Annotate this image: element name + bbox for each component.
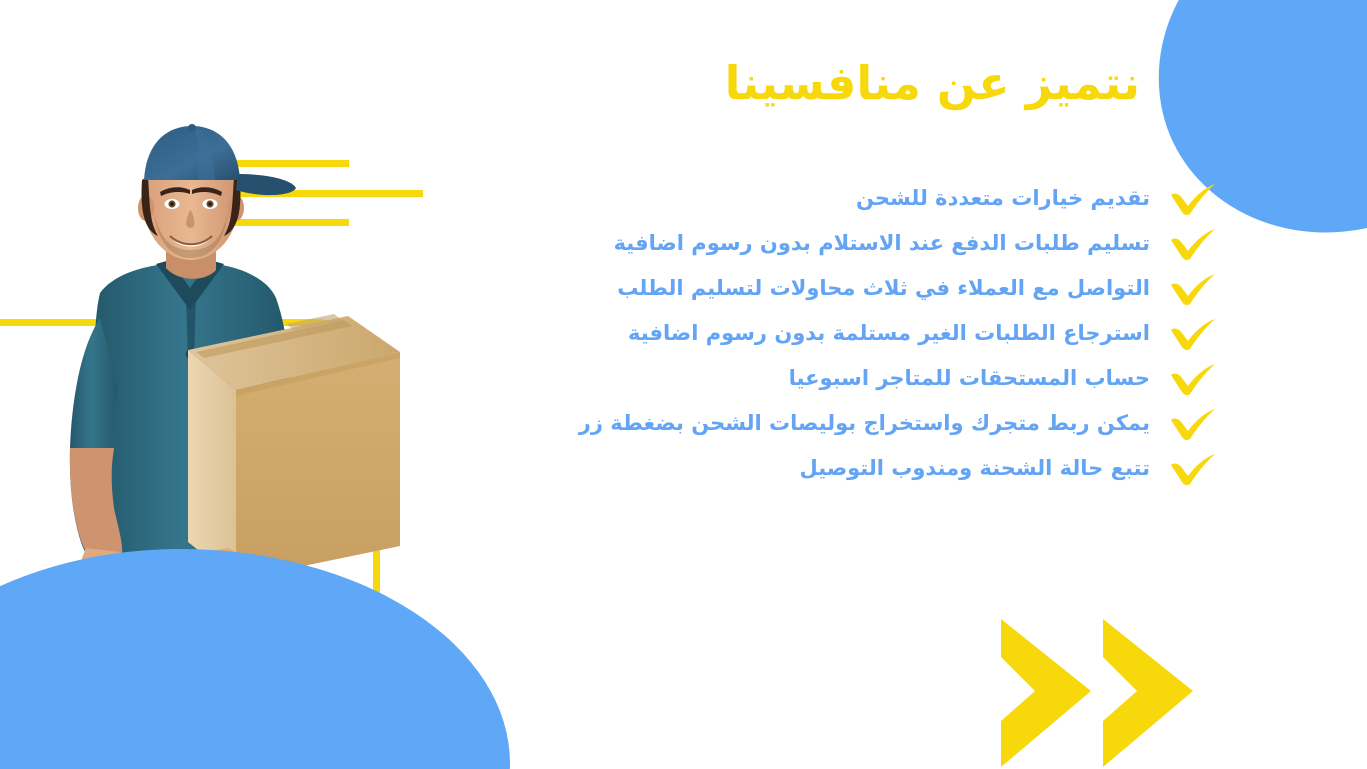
delivery-man-photo	[0, 118, 400, 618]
cap-brim	[236, 174, 296, 195]
double-chevron-right-icon	[995, 605, 1205, 769]
list-item: التواصل مع العملاء في ثلاث محاولات لتسلي…	[540, 266, 1240, 311]
list-item-label: يمكن ربط متجرك واستخراج بوليصات الشحن بض…	[579, 413, 1150, 434]
list-item-label: تقديم خيارات متعددة للشحن	[856, 188, 1150, 209]
list-item: تسليم طلبات الدفع عند الاستلام بدون رسوم…	[540, 221, 1240, 266]
cardboard-box-side	[188, 350, 236, 580]
cap	[144, 126, 240, 180]
check-icon	[1168, 272, 1218, 306]
check-icon	[1168, 182, 1218, 216]
check-icon	[1168, 407, 1218, 441]
list-item: استرجاع الطلبات الغير مستلمة بدون رسوم ا…	[540, 311, 1240, 356]
list-item-label: تتبع حالة الشحنة ومندوب التوصيل	[800, 458, 1151, 479]
list-item-label: تسليم طلبات الدفع عند الاستلام بدون رسوم…	[614, 233, 1150, 254]
list-item-label: استرجاع الطلبات الغير مستلمة بدون رسوم ا…	[628, 323, 1150, 344]
slide-root: نتميز عن منافسينا تقديم خيارات متعددة لل…	[0, 0, 1367, 769]
list-item-label: التواصل مع العملاء في ثلاث محاولات لتسلي…	[617, 278, 1150, 299]
list-item: تتبع حالة الشحنة ومندوب التوصيل	[540, 446, 1240, 491]
check-icon	[1168, 452, 1218, 486]
list-item: حساب المستحقات للمتاجر اسبوعيا	[540, 356, 1240, 401]
list-item-label: حساب المستحقات للمتاجر اسبوعيا	[789, 368, 1150, 389]
list-item: يمكن ربط متجرك واستخراج بوليصات الشحن بض…	[540, 401, 1240, 446]
list-item: تقديم خيارات متعددة للشحن	[540, 176, 1240, 221]
benefits-list: تقديم خيارات متعددة للشحن تسليم طلبات ال…	[540, 176, 1240, 491]
blue-blob-bottom-left	[0, 549, 510, 769]
check-icon	[1168, 227, 1218, 261]
check-icon	[1168, 317, 1218, 351]
page-title: نتميز عن منافسينا	[725, 58, 1140, 109]
check-icon	[1168, 362, 1218, 396]
